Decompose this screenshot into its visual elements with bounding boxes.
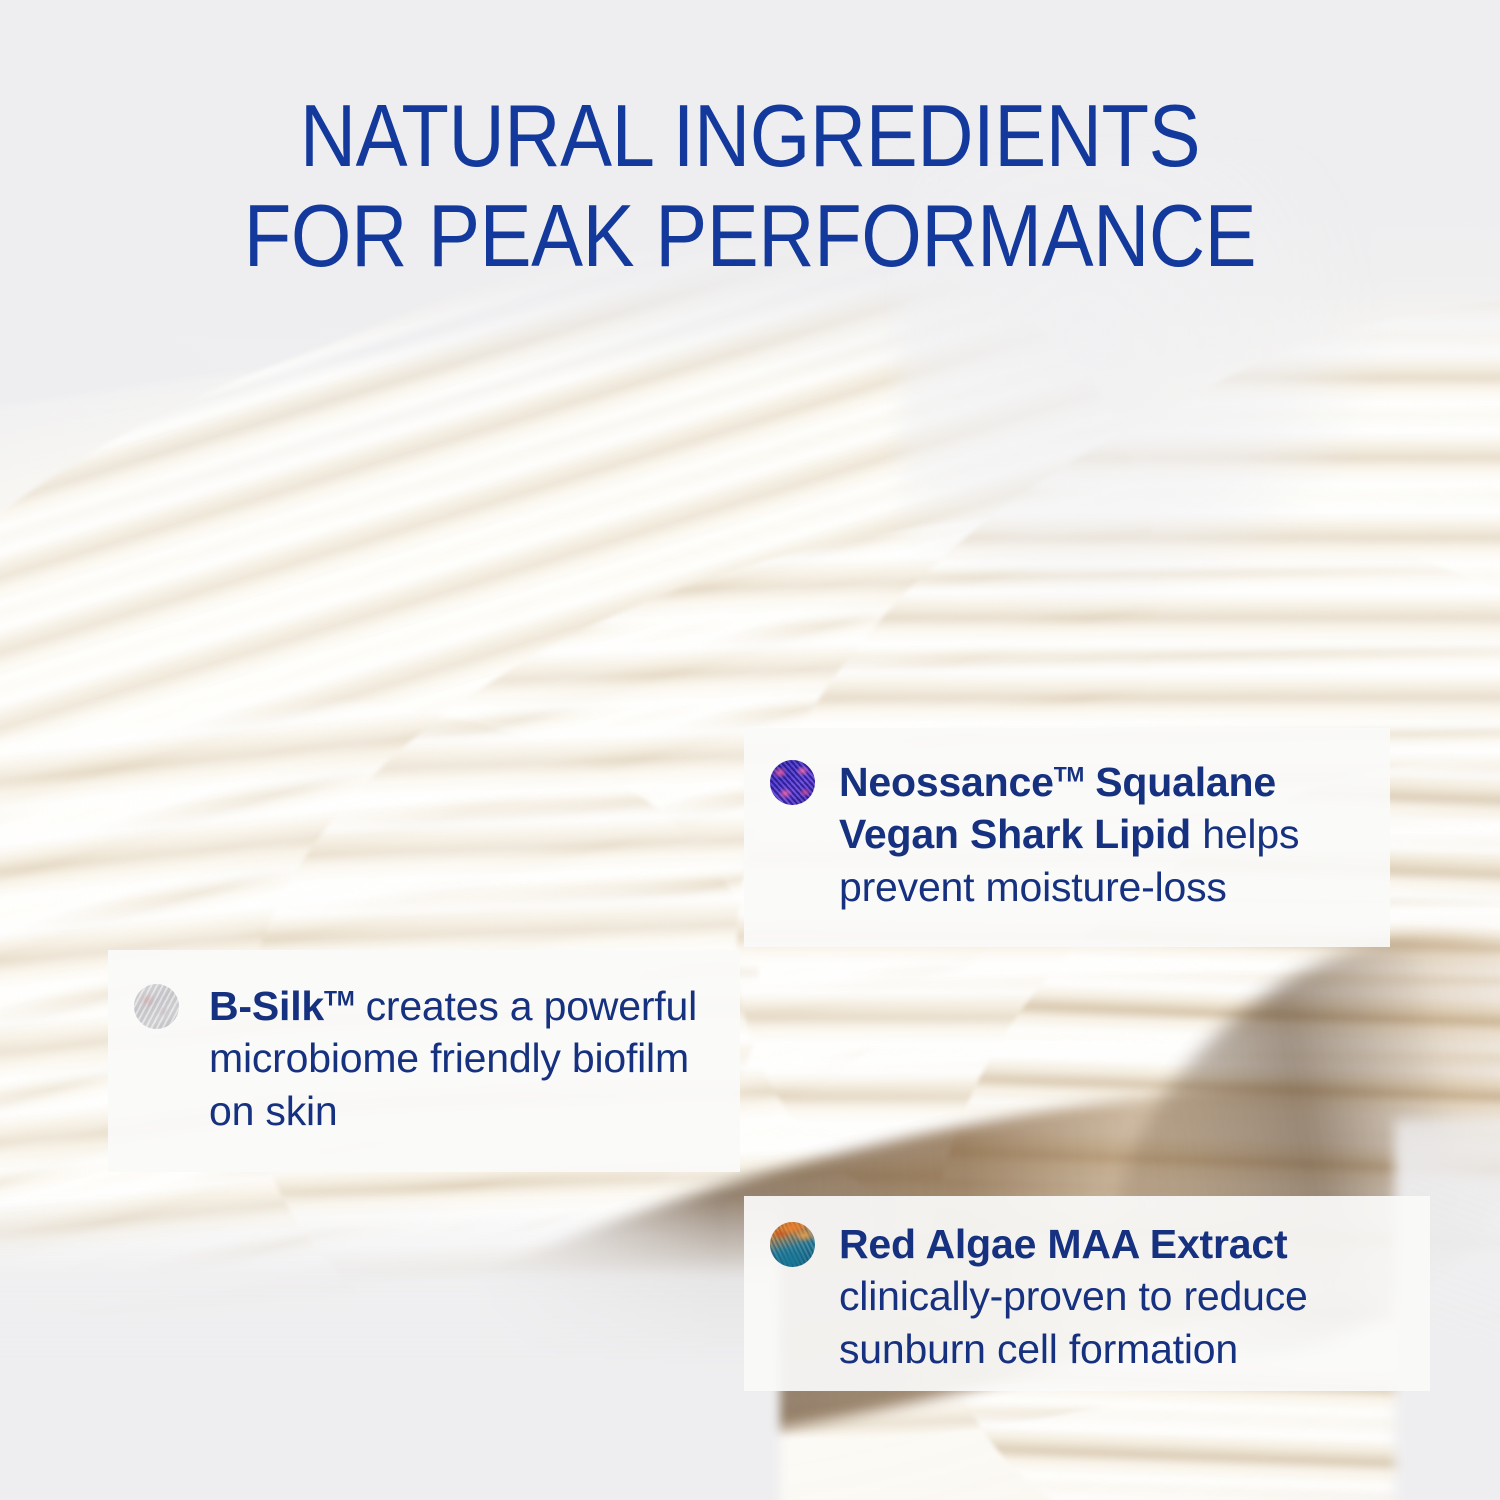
callout-text-algae: Red Algae MAA Extract clinically-proven … — [839, 1218, 1404, 1375]
backdrop-plate-bottom-left — [0, 1195, 780, 1500]
callout-card-algae: Red Algae MAA Extract clinically-proven … — [744, 1196, 1430, 1391]
callout-bold-algae: Red Algae MAA Extract — [839, 1221, 1287, 1267]
callout-text-squalane: NeossanceTM Squalane Vegan Shark Lipid h… — [839, 756, 1364, 913]
squalane-microscopy-icon — [770, 760, 815, 805]
callout-bold-bsilk: B-Silk — [209, 983, 324, 1029]
product-ingredients-infographic: NATURAL INGREDIENTS FOR PEAK PERFORMANCE… — [0, 0, 1500, 1500]
callout-text-bsilk: B-SilkTM creates a powerful microbiome f… — [209, 980, 718, 1137]
trademark-symbol-squalane: TM — [1054, 762, 1084, 786]
callout-card-bsilk: B-SilkTM creates a powerful microbiome f… — [108, 950, 740, 1172]
b-silk-protein-icon — [134, 984, 179, 1029]
page-title: NATURAL INGREDIENTS FOR PEAK PERFORMANCE — [86, 86, 1414, 287]
callout-bold-squalane: Neossance — [839, 759, 1054, 805]
callout-regular-algae: clinically-proven to reduce sunburn cell… — [839, 1273, 1308, 1371]
callout-card-squalane: NeossanceTM Squalane Vegan Shark Lipid h… — [744, 728, 1390, 947]
trademark-symbol-bsilk: TM — [324, 986, 354, 1010]
red-algae-icon — [770, 1222, 815, 1267]
